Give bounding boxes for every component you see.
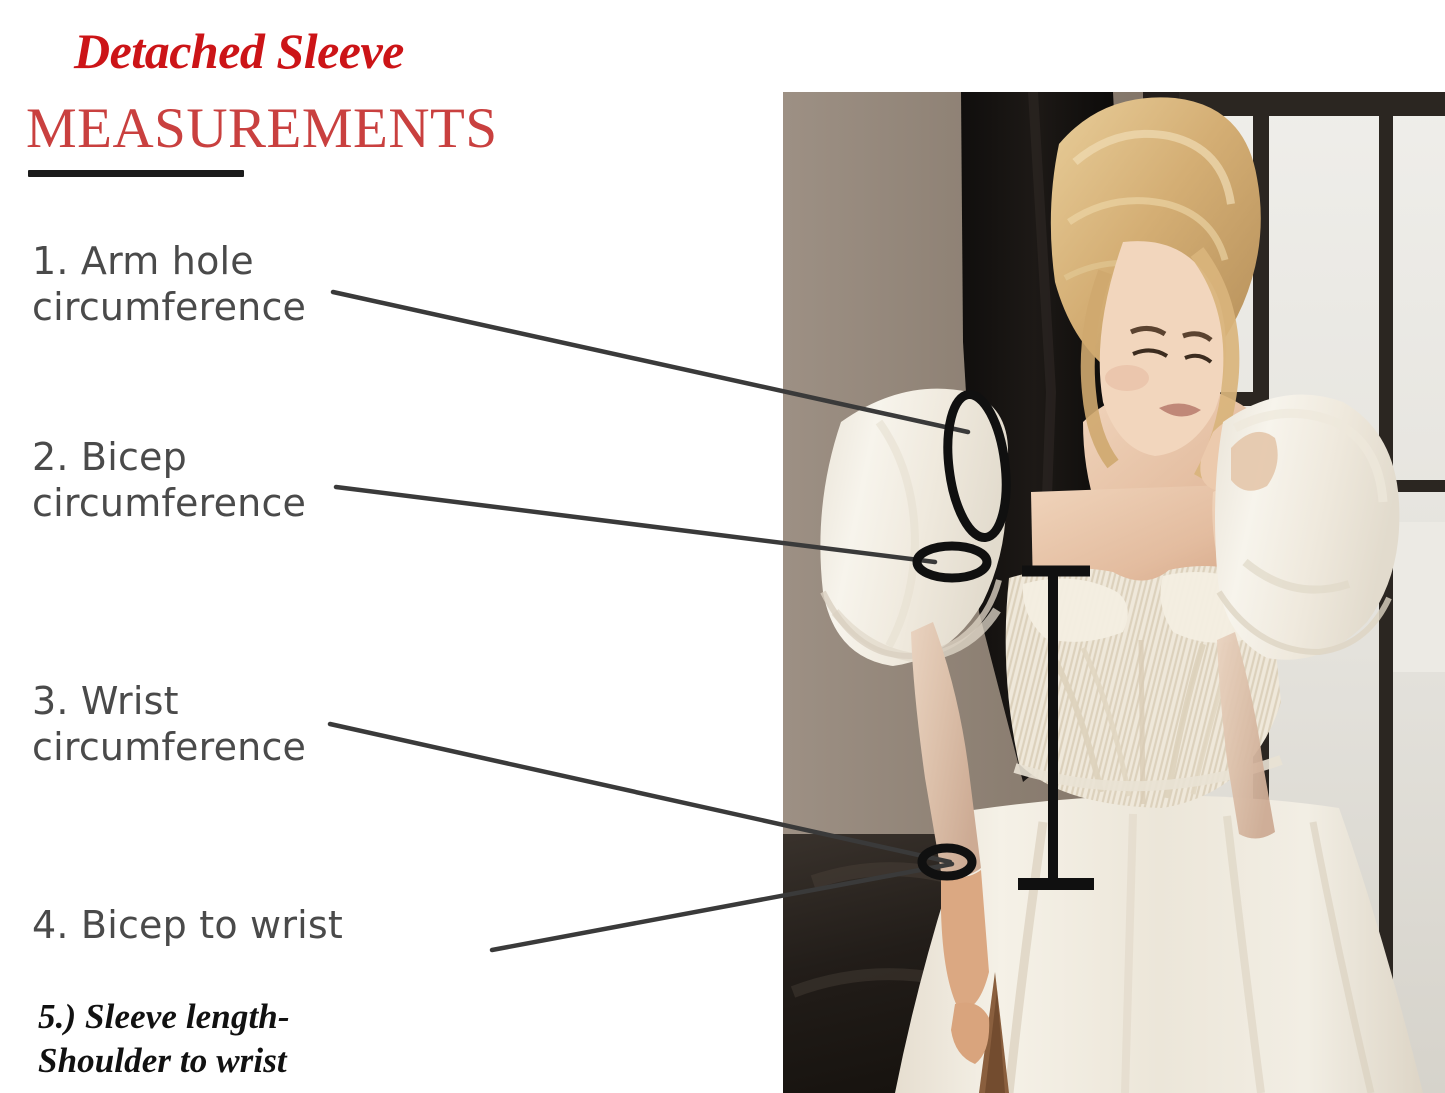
page-title: MEASUREMENTS	[26, 96, 498, 161]
measurement-item-3-wrist: 3. Wrist circumference	[32, 678, 306, 771]
page-subtitle-detached-sleeve: Detached Sleeve	[74, 22, 404, 80]
measurement-item-5-sleeve-length: 5.) Sleeve length- Shoulder to wrist	[38, 995, 290, 1083]
model-photo	[783, 92, 1445, 1093]
measurement-item-2-bicep: 2. Bicep circumference	[32, 434, 306, 527]
measurement-item-4-bicep-to-wrist: 4. Bicep to wrist	[32, 902, 343, 948]
measurement-guide-page: Detached Sleeve MEASUREMENTS 1. Arm hole…	[0, 0, 1445, 1093]
title-underline-rule	[28, 170, 244, 177]
model-photo-illustration	[783, 92, 1445, 1093]
measurement-item-1-arm-hole: 1. Arm hole circumference	[32, 238, 306, 331]
